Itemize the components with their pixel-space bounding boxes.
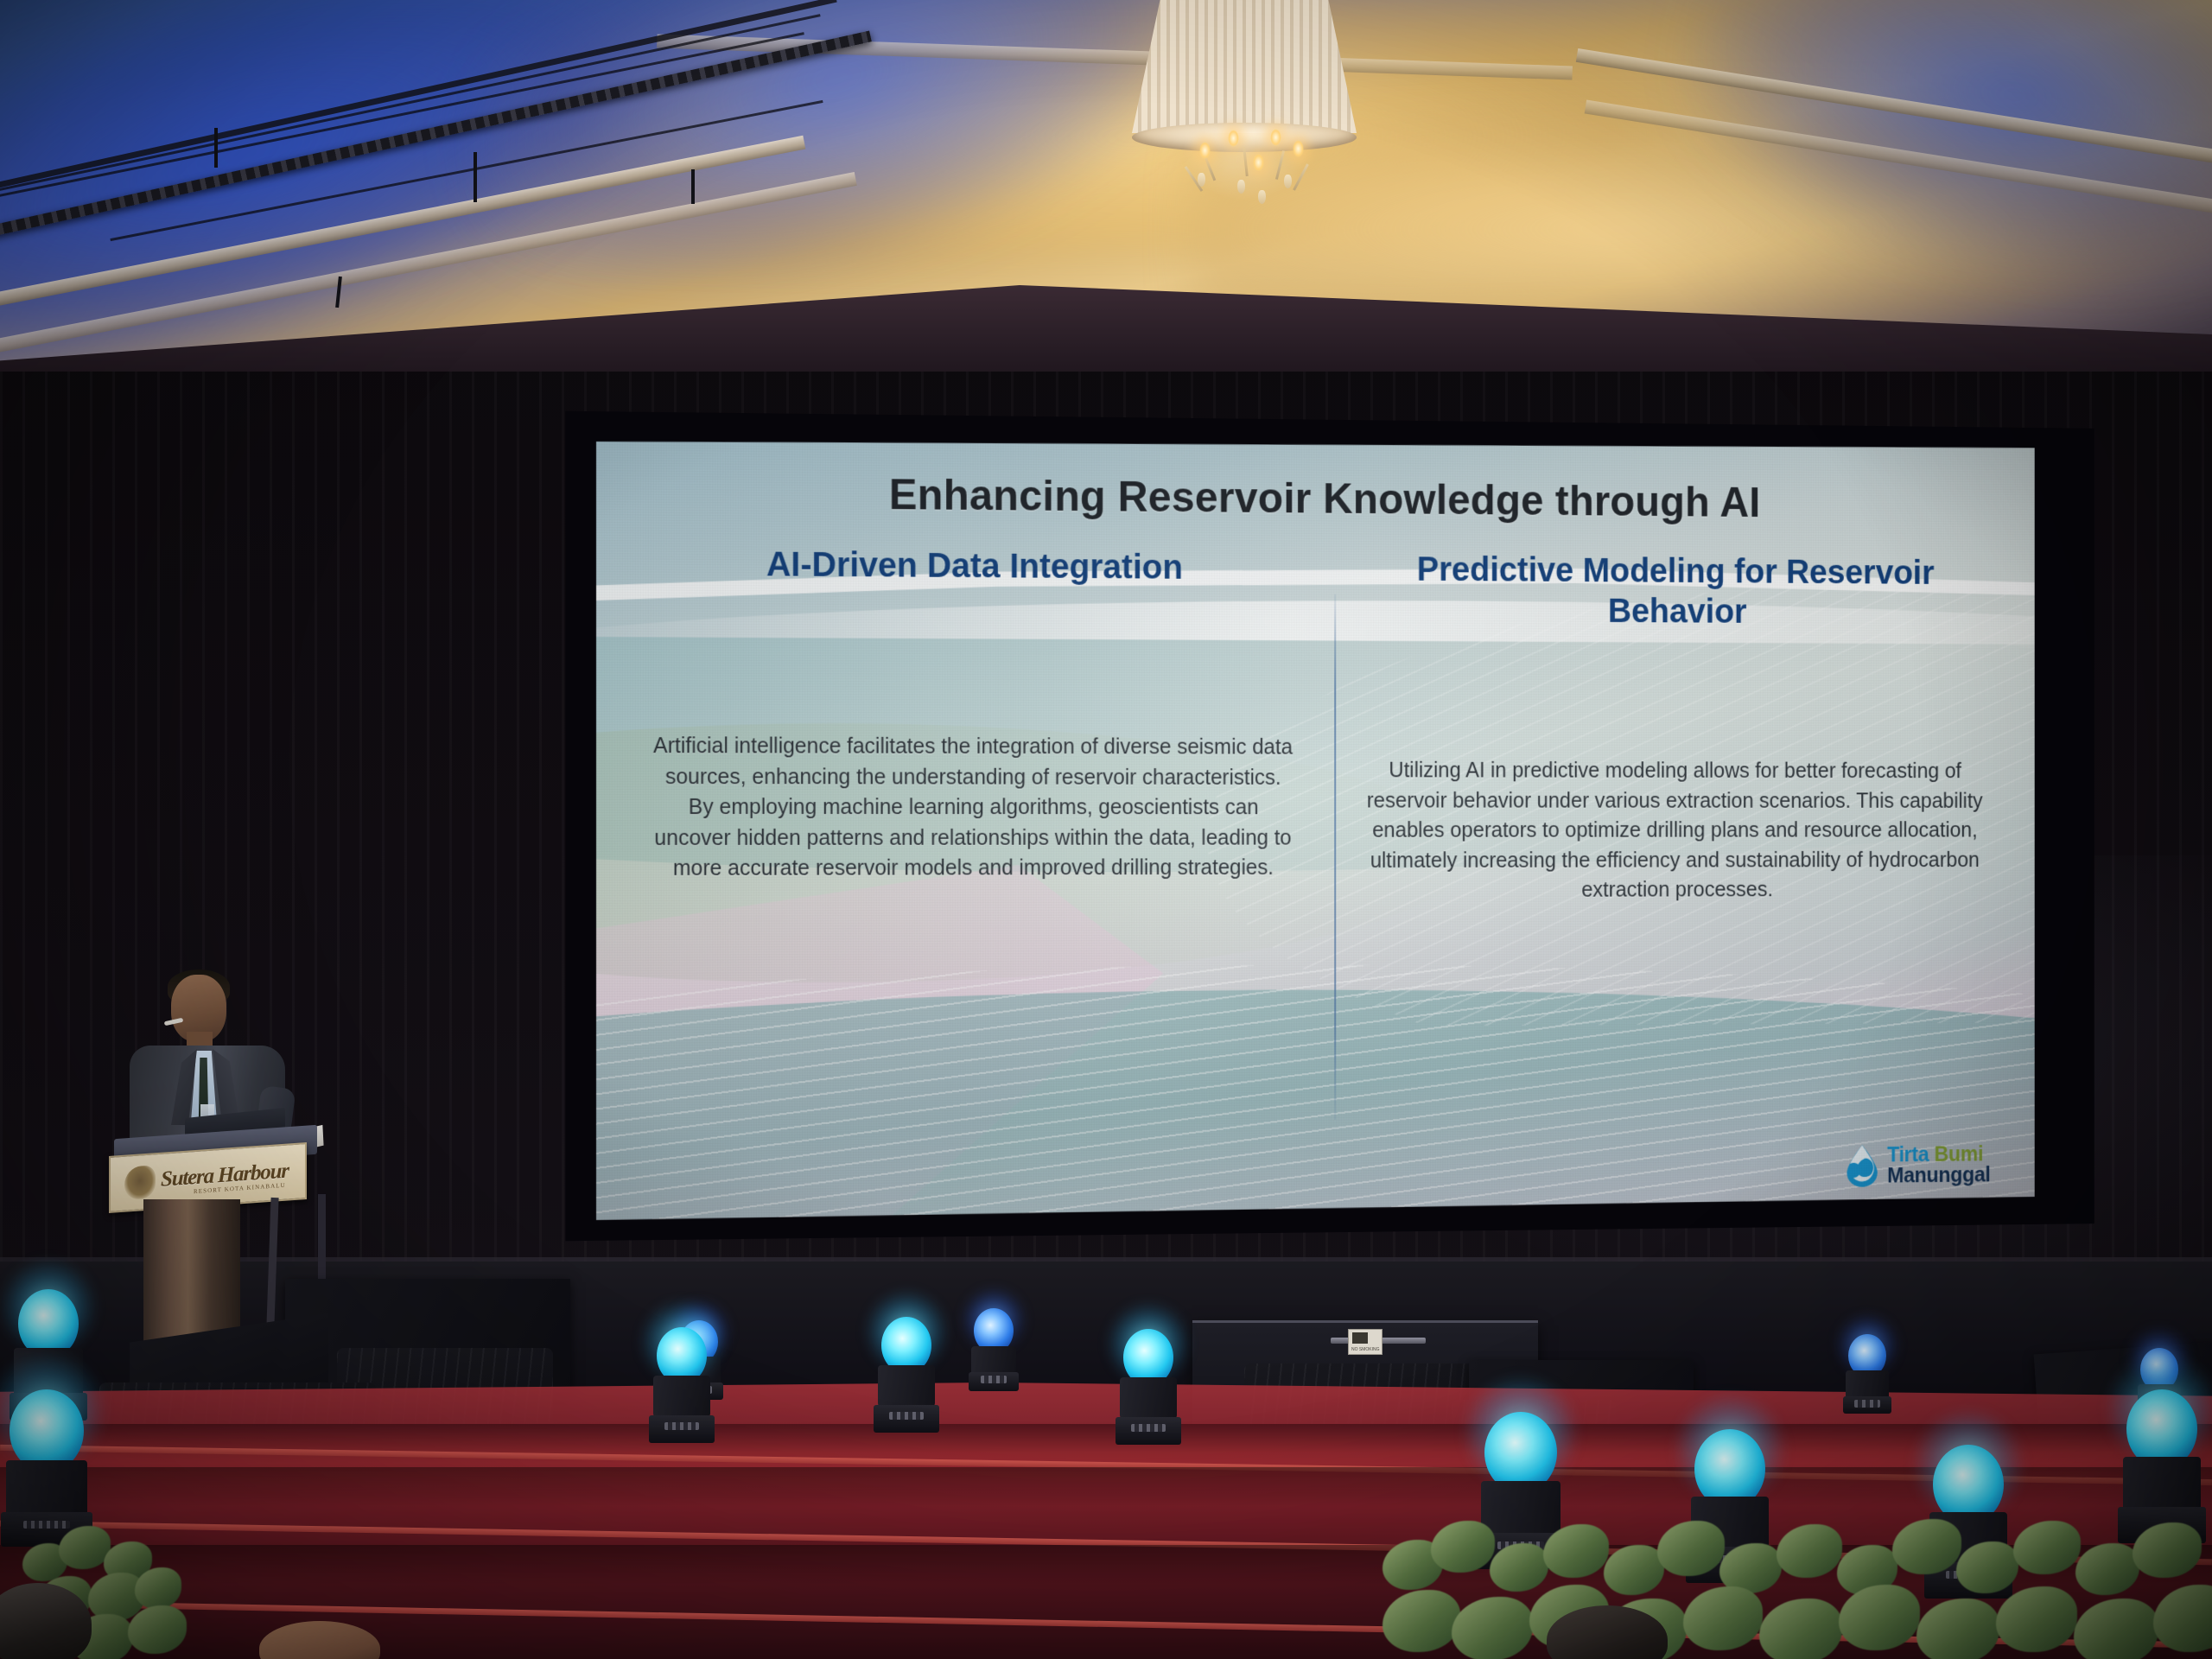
- chandelier-candle-light: [1293, 140, 1304, 157]
- chandelier-crystal: [1198, 173, 1205, 187]
- sign-label: NO SMOKING: [1351, 1347, 1380, 1352]
- moving-head-light-back[interactable]: [968, 1305, 1020, 1391]
- chandelier-candle-light: [1253, 154, 1264, 171]
- ballroom-ceiling: [0, 0, 2212, 432]
- screen-vignette: [596, 432, 2035, 1220]
- chandelier-crystal: [1258, 190, 1266, 204]
- projection-screen: Enhancing Reservoir Knowledge through AI…: [596, 432, 2035, 1220]
- moving-head-light-front[interactable]: [1115, 1324, 1182, 1445]
- chandelier-drum-shade: [1132, 0, 1357, 133]
- podium-emblem-icon: [124, 1165, 156, 1200]
- no-smoking-sign: NO SMOKING: [1348, 1329, 1382, 1355]
- no-smoking-icon: [1352, 1332, 1368, 1344]
- truss-dropper: [474, 152, 477, 202]
- moving-head-light-back[interactable]: [1842, 1331, 1892, 1414]
- chandelier-candle-light: [1270, 129, 1281, 146]
- truss-dropper: [214, 128, 218, 168]
- chandelier-candle-light: [1228, 130, 1239, 147]
- moving-head-light-front[interactable]: [873, 1312, 940, 1433]
- chandelier: [1115, 0, 1374, 194]
- planter-hedge-right: [1382, 1495, 2212, 1659]
- chandelier-candle-light: [1199, 142, 1211, 159]
- conference-photo: Enhancing Reservoir Knowledge through AI…: [0, 0, 2212, 1659]
- truss-dropper: [691, 169, 695, 204]
- chandelier-crystal: [1284, 175, 1292, 188]
- moving-head-light-front[interactable]: [648, 1322, 715, 1443]
- chandelier-crystal: [1237, 180, 1245, 194]
